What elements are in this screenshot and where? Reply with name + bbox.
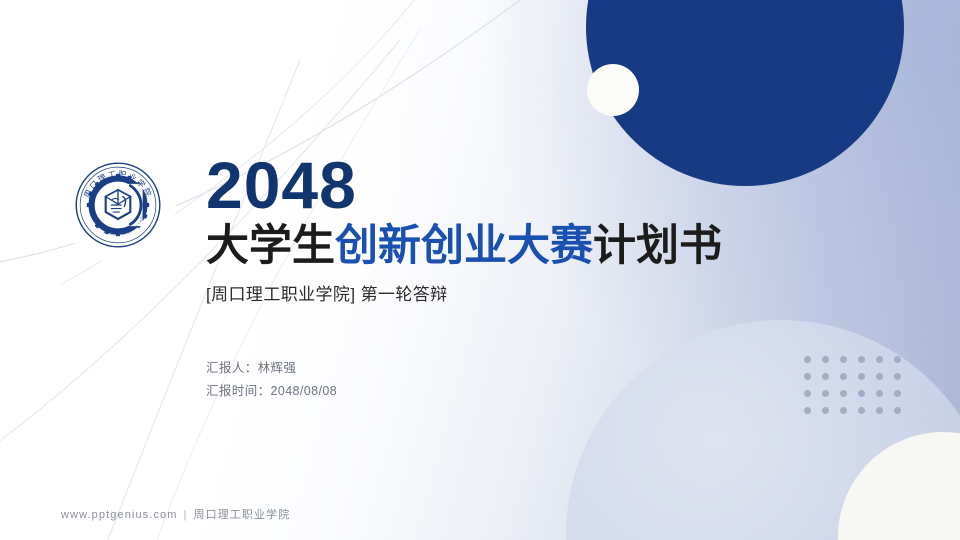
subtitle: [周口理工职业学院] 第一轮答辩 (206, 280, 846, 305)
university-logo: 周口理工职业学院 Zhoukou Polytechnic Vocational … (74, 161, 162, 249)
white-dot-decoration (587, 64, 639, 116)
title-segment-3: 计划书 (593, 222, 722, 270)
presenter-line: 汇报人：林辉强 (206, 357, 846, 380)
university-emblem-icon: 周口理工职业学院 Zhoukou Polytechnic Vocational … (74, 161, 162, 249)
meta-block: 汇报人：林辉强 汇报时间：2048/08/08 (206, 357, 846, 403)
title-block: 2048 大学生创新创业大赛计划书 [周口理工职业学院] 第一轮答辩 汇报人：林… (206, 152, 846, 403)
footer-site: www.pptgenius.com (61, 509, 178, 521)
report-date-line: 汇报时间：2048/08/08 (206, 380, 846, 403)
title-segment-2-accent: 创新创业大赛 (335, 222, 593, 270)
title-segment-1: 大学生 (206, 222, 335, 270)
presentation-slide: 周口理工职业学院 Zhoukou Polytechnic Vocational … (0, 0, 960, 540)
footer: www.pptgenius.com|周口理工职业学院 (61, 506, 290, 522)
footer-separator: | (184, 509, 188, 521)
svg-text:2020: 2020 (114, 228, 122, 232)
year-heading: 2048 (206, 152, 846, 218)
footer-org: 周口理工职业学院 (194, 509, 291, 521)
page-title: 大学生创新创业大赛计划书 (206, 222, 846, 270)
